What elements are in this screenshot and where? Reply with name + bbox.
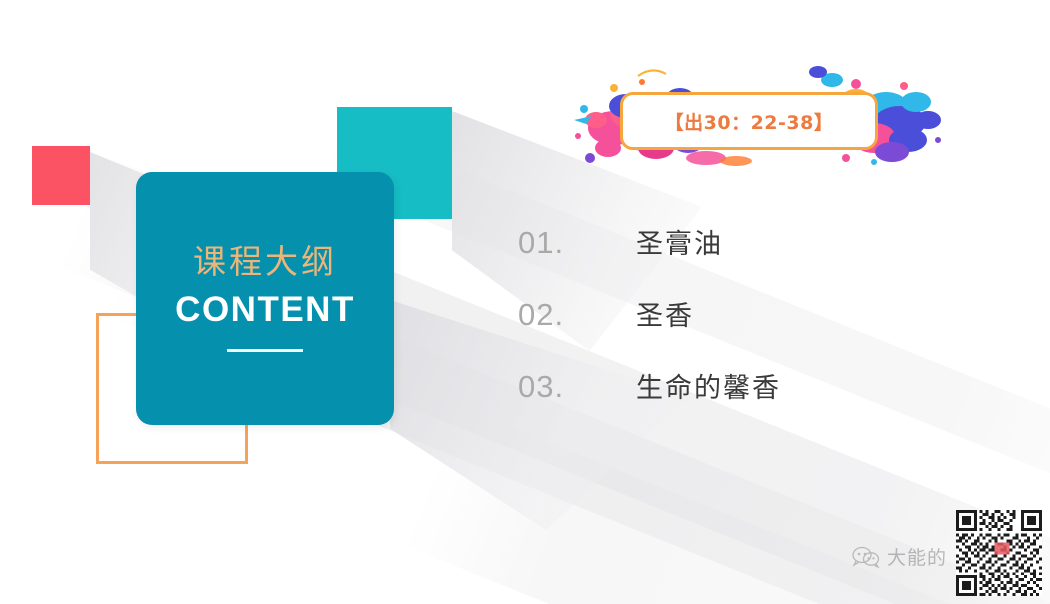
content-card-title-en: CONTENT (175, 292, 355, 327)
scripture-badge-box: 【出30：22-38】 (620, 92, 878, 150)
agenda-item-label: 生命的馨香 (636, 366, 781, 405)
watermark-account: 大能的 (852, 543, 947, 570)
qr-code (956, 510, 1042, 596)
agenda-list: 01. 圣膏油 02. 圣香 03. 生命的馨香 (518, 222, 938, 438)
agenda-item-label: 圣香 (636, 294, 694, 333)
list-item[interactable]: 03. 生命的馨香 (518, 366, 938, 438)
list-item[interactable]: 02. 圣香 (518, 294, 938, 366)
content-card: 课程大纲 CONTENT (136, 172, 394, 425)
agenda-item-number: 02. (518, 297, 636, 333)
watermark-account-name: 大能的 (887, 543, 947, 570)
list-item[interactable]: 01. 圣膏油 (518, 222, 938, 294)
slide-canvas: 课程大纲 CONTENT (0, 0, 1050, 604)
content-card-title-cn: 课程大纲 (193, 245, 337, 278)
scripture-badge: 【出30：22-38】 (556, 62, 956, 172)
agenda-item-number: 01. (518, 225, 636, 261)
agenda-item-number: 03. (518, 369, 636, 405)
red-square-decoration (32, 146, 90, 205)
wechat-icon (852, 546, 880, 568)
scripture-reference-text: 【出30：22-38】 (665, 108, 834, 135)
agenda-item-label: 圣膏油 (636, 222, 723, 261)
watermark: 大能的 (852, 504, 1042, 596)
content-card-underline (227, 349, 303, 352)
